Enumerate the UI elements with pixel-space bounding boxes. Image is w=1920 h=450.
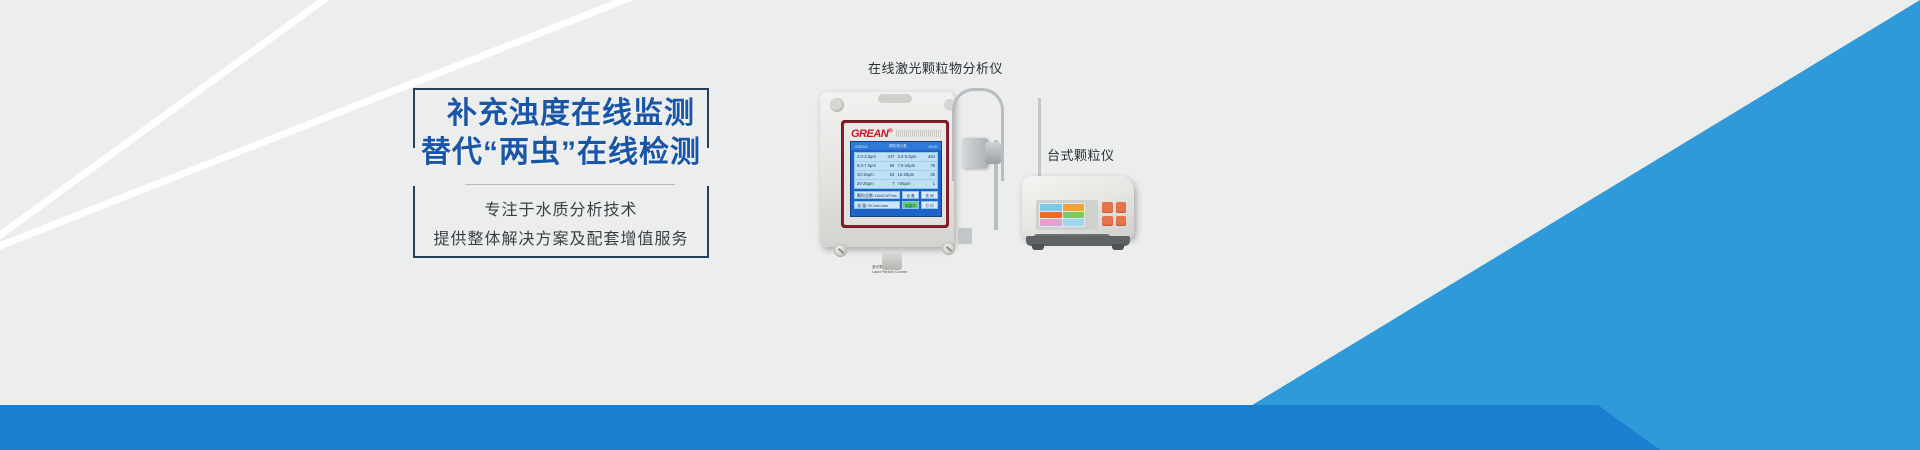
status-flow-rate: 流 量:78.2mL/min — [854, 201, 900, 209]
cell-count-a: 94 — [881, 162, 897, 170]
lcd-button-measuring[interactable]: 测量中 — [902, 201, 919, 209]
screen-tile-5 — [1040, 219, 1062, 226]
table-row: 5.0-7.0μm 94 7.0-10μm 76 — [855, 162, 937, 171]
analyzer-red-bezel: GREAN® GREAN 颗粒物计数 00:00 2.0-3.0μm 447 — [841, 120, 949, 228]
cell-count-b: 35 — [922, 171, 935, 179]
vent-grille-icon — [896, 130, 941, 137]
cable-gland — [882, 252, 902, 270]
lcd-title-center: 颗粒物计数 — [889, 143, 907, 148]
bench-counter-housing — [1022, 176, 1134, 238]
headline-line-2: 替代“两虫”在线检测 — [413, 133, 709, 172]
analyzer-front-face: GREAN® GREAN 颗粒物计数 00:00 2.0-3.0μm 447 — [844, 123, 946, 225]
status-total-count: 颗粒总数:1166CNT/mL — [854, 191, 900, 199]
screen-tile-2 — [1063, 204, 1085, 211]
brand-logo: GREAN® — [851, 128, 892, 140]
cell-range-a: 10-15μm — [857, 171, 881, 179]
cell-range-b: 7.0-10μm — [898, 162, 922, 170]
screen-tile-3 — [1040, 212, 1062, 219]
caption-english: Laser Particle Counter — [872, 270, 908, 275]
lcd-title-left: GREAN — [855, 144, 868, 149]
cell-count-b: 1 — [922, 180, 935, 188]
lcd-status-area: 颗粒总数:1166CNT/mL 设 置 查 询 流 量:78.2mL/min 测… — [854, 191, 938, 209]
lcd-button-print[interactable]: 打 印 — [921, 201, 938, 209]
headline-block: 补充浊度在线监测 替代“两虫”在线检测 专注于水质分析技术 提供整体解决方案及配… — [413, 88, 709, 258]
analyzer-lcd-screen[interactable]: GREAN 颗粒物计数 00:00 2.0-3.0μm 447 3.0-5.0μ… — [850, 141, 942, 217]
subheadline-line-1: 专注于水质分析技术 — [413, 196, 709, 225]
online-laser-particle-analyzer: GREAN® GREAN 颗粒物计数 00:00 2.0-3.0μm 447 — [812, 82, 962, 257]
cell-range-a: 20-25μm — [857, 180, 881, 188]
cell-range-a: 2.0-3.0μm — [857, 153, 881, 161]
table-row: 10-15μm 52 15-20μm 35 — [855, 171, 937, 180]
headline-divider — [465, 184, 675, 185]
headline-line-1: 补充浊度在线监测 — [413, 94, 709, 133]
promo-banner: 补充浊度在线监测 替代“两虫”在线检测 专注于水质分析技术 提供整体解决方案及配… — [0, 0, 1920, 450]
cell-count-a: 52 — [881, 171, 897, 179]
table-row: 20-25μm 7 >25μm 1 — [855, 180, 937, 188]
analyzer-enclosure: GREAN® GREAN 颗粒物计数 00:00 2.0-3.0μm 447 — [820, 92, 954, 247]
cell-range-a: 5.0-7.0μm — [857, 162, 881, 170]
lcd-data-table: 2.0-3.0μm 447 3.0-5.0μm 454 5.0-7.0μm 94… — [854, 152, 938, 189]
tube-fitting — [958, 228, 972, 244]
keypad-button-4[interactable] — [1116, 216, 1127, 227]
bench-counter-foot-left — [1032, 244, 1044, 250]
bracket-top — [413, 88, 709, 90]
enclosure-top-lug — [878, 94, 912, 103]
lcd-button-query[interactable]: 查 询 — [921, 191, 938, 199]
bench-particle-counter — [1022, 168, 1142, 258]
label-bench-counter: 台式颗粒仪 — [1047, 145, 1115, 164]
keypad-button-1[interactable] — [1102, 202, 1113, 213]
bench-counter-foot-right — [1112, 244, 1124, 250]
screw-icon-bottom-left — [834, 244, 847, 257]
bench-counter-keypad[interactable] — [1102, 202, 1126, 226]
screen-tile-6 — [1063, 219, 1085, 226]
lcd-status-row-total: 颗粒总数:1166CNT/mL 设 置 查 询 — [854, 191, 938, 199]
optical-sensor-cap — [985, 142, 1001, 164]
lcd-title-bar: GREAN 颗粒物计数 00:00 — [851, 142, 941, 150]
lcd-title-right: 00:00 — [928, 144, 937, 149]
enclosure-corner-knob-left — [830, 98, 844, 112]
brand-name: GREAN — [851, 128, 888, 140]
table-row: 2.0-3.0μm 447 3.0-5.0μm 454 — [855, 153, 937, 162]
cell-range-b: 3.0-5.0μm — [898, 153, 922, 161]
subheadline-text: 专注于水质分析技术 提供整体解决方案及配套增值服务 — [413, 196, 709, 254]
lcd-button-settings[interactable]: 设 置 — [902, 191, 919, 199]
cell-count-b: 454 — [922, 153, 935, 161]
keypad-button-3[interactable] — [1102, 216, 1113, 227]
cell-range-b: >25μm — [898, 180, 922, 188]
lcd-status-row-flow: 流 量:78.2mL/min 测量中 打 印 — [854, 201, 938, 209]
headline-text: 补充浊度在线监测 替代“两虫”在线检测 — [413, 94, 709, 172]
screen-tile-4 — [1063, 212, 1085, 219]
cell-range-b: 15-20μm — [898, 171, 922, 179]
label-online-analyzer: 在线激光颗粒物分析仪 — [868, 58, 1003, 77]
keypad-button-2[interactable] — [1116, 202, 1127, 213]
bench-counter-pole — [1038, 98, 1041, 178]
cell-count-a: 447 — [881, 153, 897, 161]
brand-registered-mark: ® — [888, 128, 892, 134]
bench-counter-screen[interactable] — [1039, 203, 1085, 227]
cell-count-a: 7 — [881, 180, 897, 188]
screen-tile-1 — [1040, 204, 1062, 211]
screw-icon-bottom-right — [942, 242, 955, 255]
bench-counter-panel — [1036, 200, 1098, 230]
bracket-bottom — [413, 256, 709, 258]
subheadline-line-2: 提供整体解决方案及配套增值服务 — [413, 225, 709, 254]
cell-count-b: 76 — [922, 162, 935, 170]
